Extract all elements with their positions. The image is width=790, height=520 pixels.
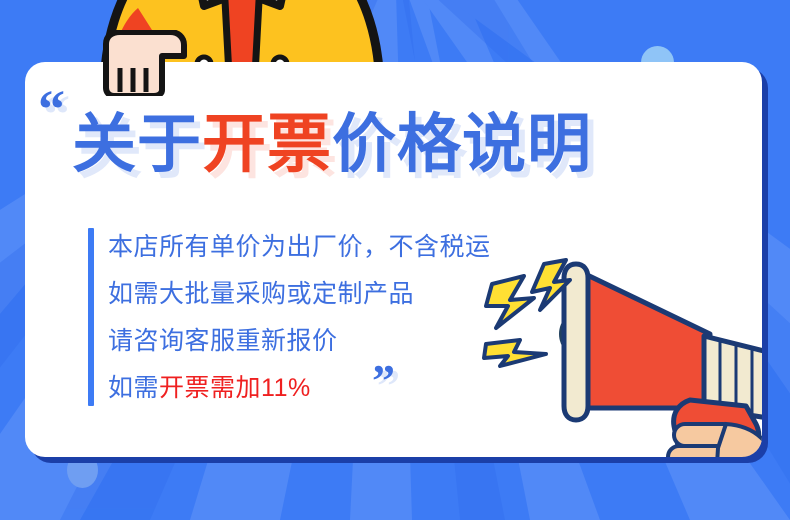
quote-open-icon: “ (38, 82, 66, 136)
title-part-1: 关于 (72, 108, 202, 180)
body-line-text: 本店所有单价为出厂价，不含税运 (108, 233, 491, 261)
body-line-text: 如需 (108, 374, 159, 402)
megaphone-illustration (478, 248, 762, 457)
title-part-2: 开票 (202, 108, 332, 180)
lightning-bolt-group (484, 260, 570, 366)
promo-banner: “ 关于开票价格说明 本店所有单价为出厂价，不含税运 如需大批量采购或定制产品 … (0, 0, 790, 520)
body-line-highlight: 开票需加11% (159, 374, 311, 402)
body-line-text: 请咨询客服重新报价 (108, 327, 338, 355)
accent-bar (88, 228, 94, 406)
body-line-text: 如需大批量采购或定制产品 (108, 280, 414, 308)
page-title: 关于开票价格说明 (72, 112, 592, 176)
content-card: “ 关于开票价格说明 本店所有单价为出厂价，不含税运 如需大批量采购或定制产品 … (25, 62, 762, 457)
quote-close-icon: ” (372, 358, 395, 404)
title-part-3: 价格说明 (332, 108, 592, 180)
hand-holding-card-icon (98, 30, 194, 96)
